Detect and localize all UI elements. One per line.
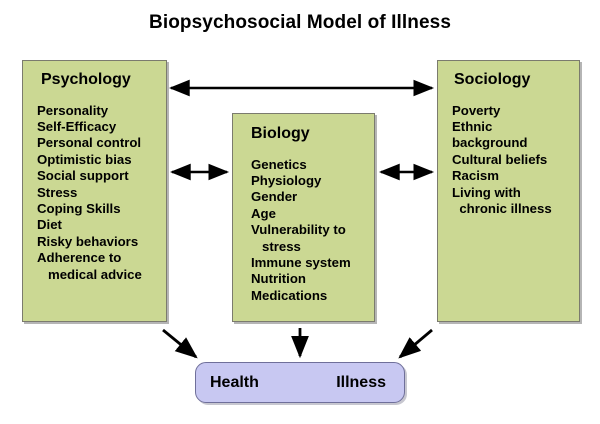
list-item: Personality xyxy=(37,103,166,119)
list-item: Ethnic xyxy=(452,119,579,135)
outcome-row: Health Illness xyxy=(196,363,404,402)
diagram-canvas: Biopsychosocial Model of Illness xyxy=(0,0,600,424)
list-item: Social support xyxy=(37,168,166,184)
list-item: Age xyxy=(251,206,374,222)
page-title: Biopsychosocial Model of Illness xyxy=(0,12,600,34)
list-item: background xyxy=(452,135,579,151)
biology-box: Biology GeneticsPhysiologyGenderAgeVulne… xyxy=(232,113,375,322)
biology-item-list: GeneticsPhysiologyGenderAgeVulnerability… xyxy=(251,157,374,305)
list-item: Diet xyxy=(37,217,166,233)
outcome-box: Health Illness xyxy=(195,362,405,403)
list-item: Racism xyxy=(452,168,579,184)
list-item: Adherence to xyxy=(37,250,166,266)
list-item: Coping Skills xyxy=(37,201,166,217)
list-item: Living with xyxy=(452,185,579,201)
list-item: Stress xyxy=(37,185,166,201)
list-item: Risky behaviors xyxy=(37,234,166,250)
sociology-outcome-arrow xyxy=(400,330,432,357)
list-item: Personal control xyxy=(37,135,166,151)
list-item: Nutrition xyxy=(251,271,374,287)
psychology-outcome-arrow xyxy=(163,330,196,357)
list-item: chronic illness xyxy=(452,201,579,217)
list-item: Medications xyxy=(251,288,374,304)
list-item: medical advice xyxy=(37,267,166,283)
list-item: Genetics xyxy=(251,157,374,173)
list-item: stress xyxy=(251,239,374,255)
list-item: Self-Efficacy xyxy=(37,119,166,135)
psychology-box: Psychology PersonalitySelf-EfficacyPerso… xyxy=(22,60,167,322)
psychology-item-list: PersonalitySelf-EfficacyPersonal control… xyxy=(37,103,166,283)
list-item: Cultural beliefs xyxy=(452,152,579,168)
biology-box-title: Biology xyxy=(251,125,374,143)
outcome-illness-label: Illness xyxy=(336,374,386,392)
list-item: Physiology xyxy=(251,173,374,189)
list-item: Poverty xyxy=(452,103,579,119)
sociology-box: Sociology PovertyEthnicbackgroundCultura… xyxy=(437,60,580,322)
list-item: Immune system xyxy=(251,255,374,271)
list-item: Optimistic bias xyxy=(37,152,166,168)
psychology-box-title: Psychology xyxy=(41,71,166,89)
list-item: Gender xyxy=(251,189,374,205)
list-item: Vulnerability to xyxy=(251,222,374,238)
outcome-health-label: Health xyxy=(210,374,259,392)
sociology-box-title: Sociology xyxy=(454,71,579,89)
sociology-item-list: PovertyEthnicbackgroundCultural beliefsR… xyxy=(452,103,579,218)
